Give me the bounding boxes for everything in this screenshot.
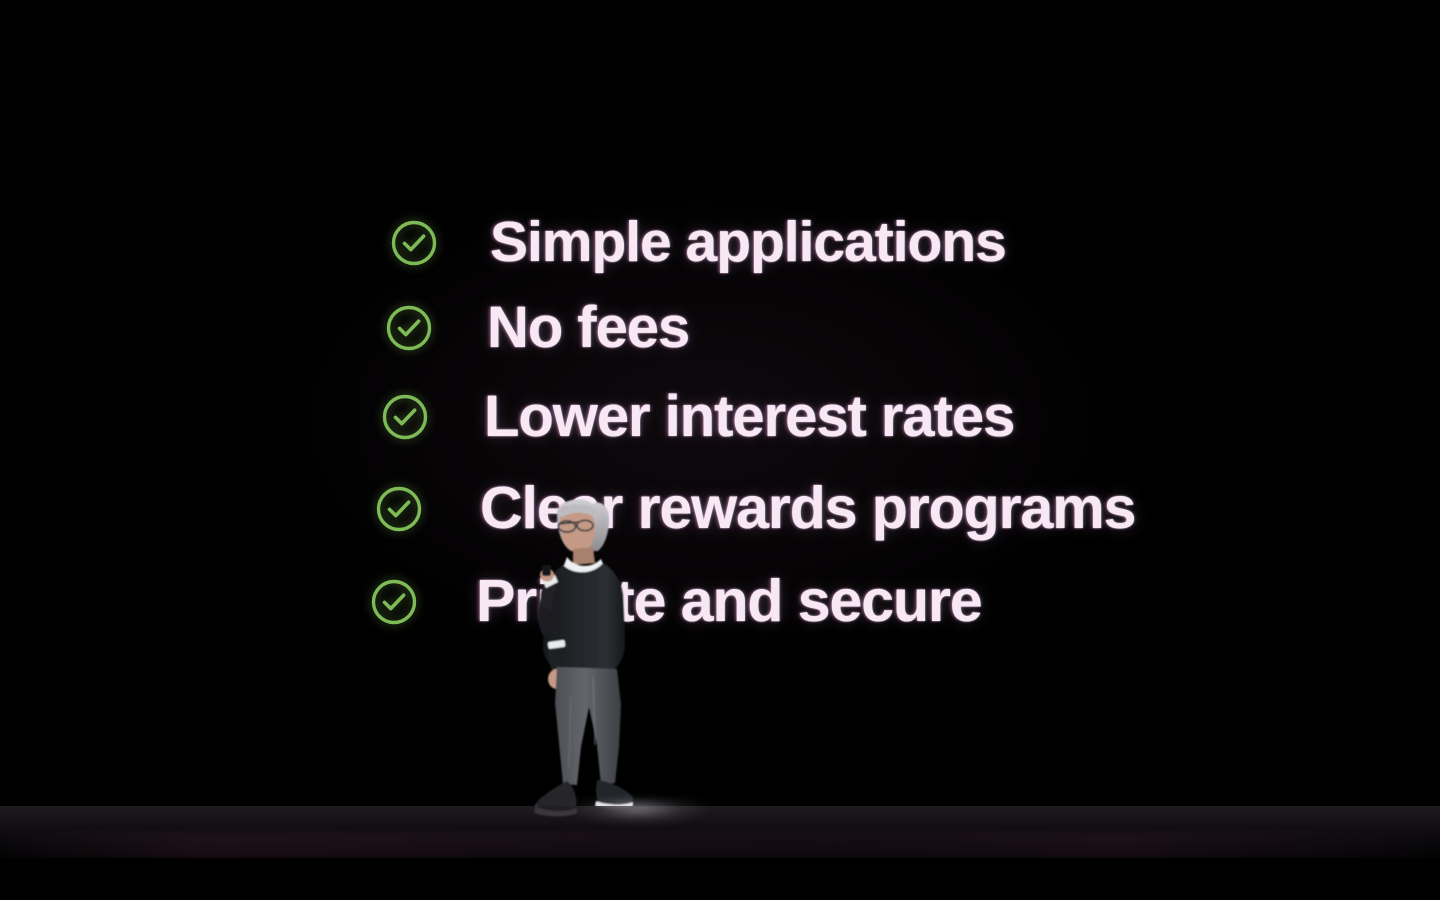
slide-bullet-item: Lower interest rates	[379, 388, 1014, 446]
slide-bullet-item: Clear rewards programs	[373, 479, 1135, 538]
check-circle-icon	[379, 391, 431, 443]
slide-bullet-label: Clear rewards programs	[480, 479, 1135, 538]
shoe-reflection-highlight	[548, 800, 728, 846]
slide-bullet-label: Lower interest rates	[484, 388, 1014, 446]
slide-bullet-item: No fees	[383, 299, 689, 357]
slide-bullet-label: No fees	[487, 299, 689, 357]
check-circle-icon	[373, 483, 425, 535]
slide-bullet-item: Private and secure	[368, 572, 982, 631]
presentation-slide: Simple applications No fees Lower intere…	[0, 0, 1440, 900]
slide-bullet-item: Simple applications	[388, 214, 1006, 271]
check-circle-icon	[388, 217, 440, 269]
check-circle-icon	[383, 302, 435, 354]
keynote-stage-scene: Simple applications No fees Lower intere…	[0, 0, 1440, 900]
letterbox-bottom	[0, 858, 1440, 900]
check-circle-icon	[368, 576, 420, 628]
slide-bullet-label: Simple applications	[490, 214, 1006, 271]
slide-bullet-label: Private and secure	[476, 572, 982, 631]
